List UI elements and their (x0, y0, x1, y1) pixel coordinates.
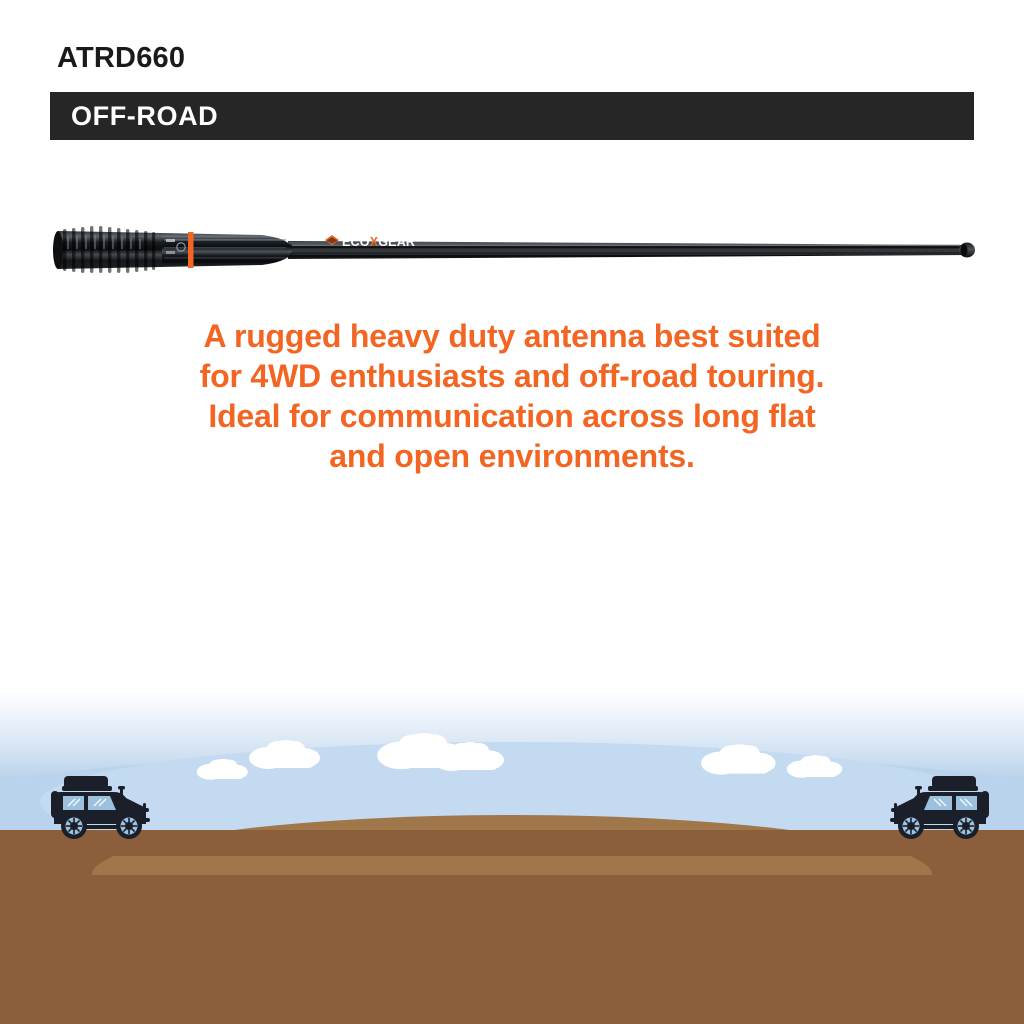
product-image: ECOXGEAR ECO X GEAR (0, 195, 1024, 305)
vehicle-left (44, 772, 156, 847)
category-banner: OFF-ROAD (50, 92, 974, 140)
vehicle-layer (0, 672, 1024, 1024)
svg-text:ECOXGEAR: ECOXGEAR (342, 235, 415, 249)
description-line-4: and open environments. (0, 436, 1024, 476)
logo-prefix: ECO (342, 235, 370, 249)
product-description: A rugged heavy duty antenna best suited … (0, 316, 1024, 476)
infographic-page: ATRD660 OFF-ROAD (0, 0, 1024, 1024)
category-label: OFF-ROAD (71, 103, 218, 130)
antenna-illustration: ECOXGEAR (0, 195, 1024, 305)
logo-suffix: GEAR (378, 235, 415, 249)
description-line-1: A rugged heavy duty antenna best suited (0, 316, 1024, 356)
accent-ring (188, 232, 194, 268)
description-line-2: for 4WD enthusiasts and off-road touring… (0, 356, 1024, 396)
vehicle-right (884, 772, 996, 847)
description-line-3: Ideal for communication across long flat (0, 396, 1024, 436)
page-title: ATRD660 (57, 44, 185, 73)
landscape-scene (0, 672, 1024, 1024)
